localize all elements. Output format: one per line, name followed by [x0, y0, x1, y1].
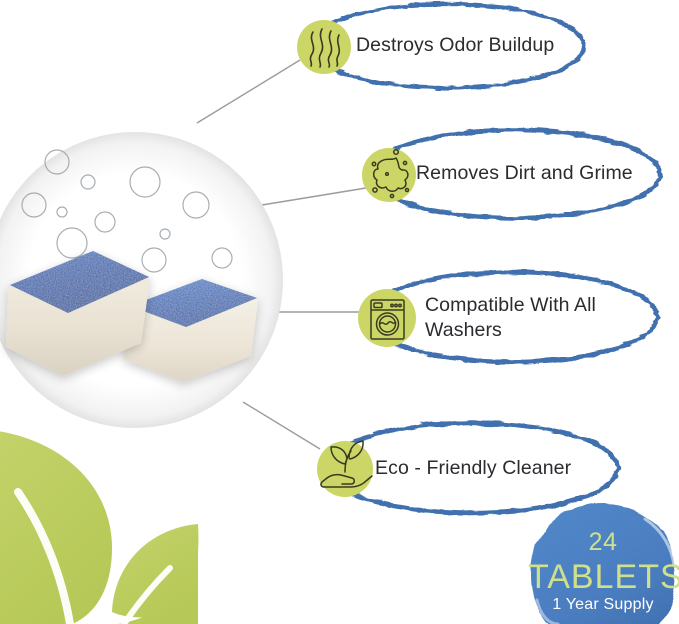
- feature-icon-4: [317, 441, 373, 497]
- feature-icon-2: [362, 148, 416, 202]
- badge-unit: TABLETS: [528, 558, 678, 597]
- feature-label-compatible-with-all-washers: Compatible With All Washers: [425, 293, 640, 343]
- feature-label-destroys-odor-buildup: Destroys Odor Buildup: [356, 33, 586, 58]
- feature-icon-1: [297, 20, 351, 74]
- badge-subtitle: 1 Year Supply: [533, 596, 673, 614]
- product-infographic: Destroys Odor Buildup Removes Dirt and G…: [0, 0, 679, 624]
- icon-circle: [297, 20, 351, 74]
- leaf-small: [112, 524, 198, 624]
- feature-label-removes-dirt-and-grime: Removes Dirt and Grime: [416, 161, 661, 186]
- connector-line-4: [243, 402, 320, 449]
- feature-icon-3: [358, 289, 416, 347]
- feature-ellipses: [310, 4, 660, 513]
- eco-leaves-graphic: [0, 430, 198, 624]
- leaf-large: [0, 430, 112, 624]
- connector-line-2: [262, 188, 366, 205]
- connector-line-1: [197, 60, 300, 123]
- feature-label-eco-friendly-cleaner: Eco - Friendly Cleaner: [375, 456, 600, 481]
- badge-count: 24: [533, 528, 673, 557]
